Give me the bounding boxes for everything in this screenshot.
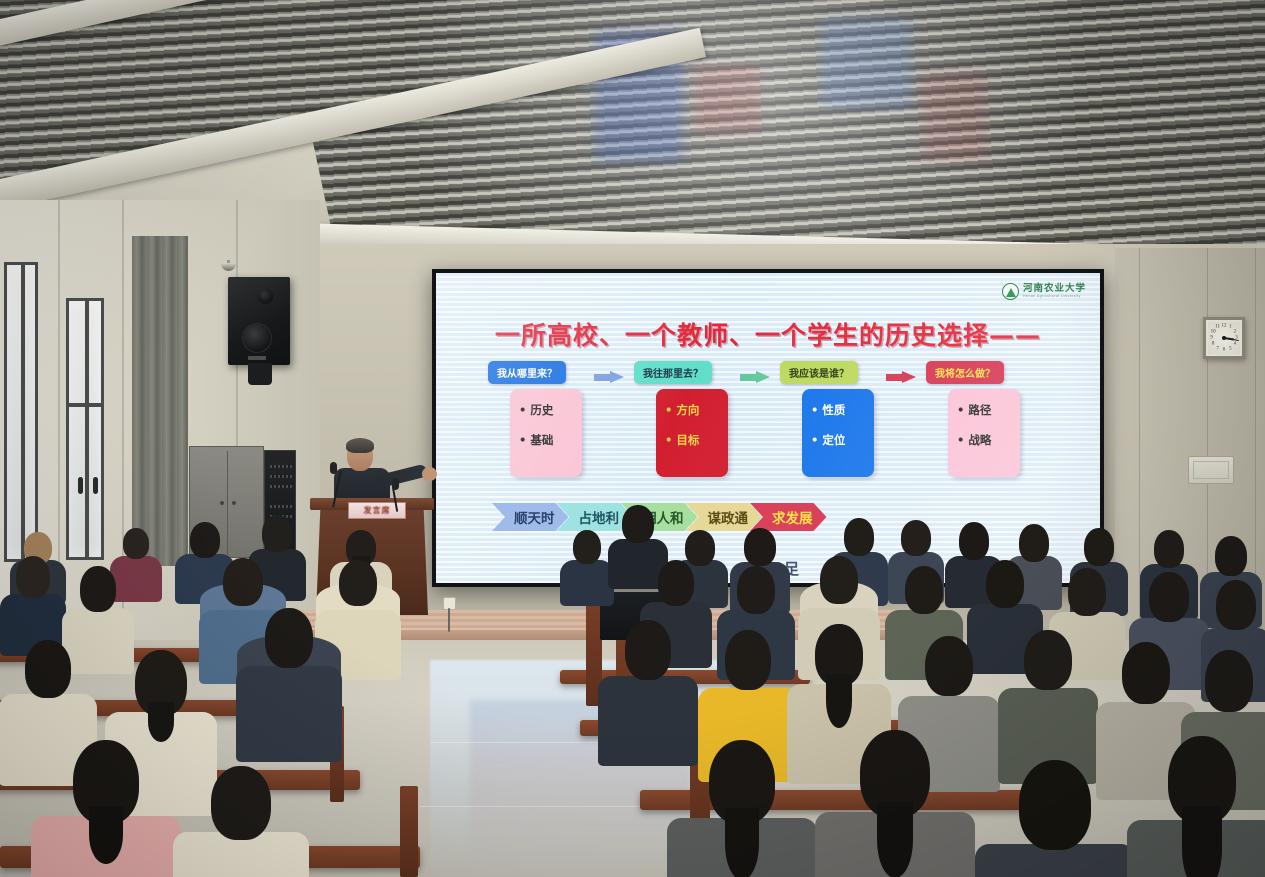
person-ponytail [148,702,174,742]
person-head [223,558,263,606]
wall-access-panel[interactable] [1188,456,1234,484]
person-head [123,528,149,559]
person-head [1216,580,1256,630]
person-head [339,560,377,606]
rack-vent [270,485,292,488]
clock-numeral: 4 [1234,341,1237,346]
person-head [1122,642,1170,704]
rack-vent [270,465,292,468]
flow-item: 定位 [811,432,874,448]
person-head [262,515,292,552]
flow-stage-3-question: 我应该是谁？ [780,361,858,384]
flow-stage-4-card: 路径 战略 [948,389,1020,477]
person-head [986,560,1024,608]
flow-item: 性质 [811,402,874,418]
person-head [844,518,874,556]
wall-clock: 12 1 2 3 4 5 6 7 8 9 10 11 [1203,317,1245,359]
person-head [80,566,116,612]
person-ponytail [89,806,123,864]
person-head [211,766,271,840]
presenter-hand [422,467,437,481]
audience-member [1132,736,1265,877]
audience-member [0,556,66,652]
flow-stage-4-question: 我将怎么做？ [926,361,1004,384]
person-head [925,636,973,696]
person-ponytail [1182,806,1222,877]
person-ponytail [877,802,913,877]
window-left-upper [66,298,104,560]
audience-member [560,530,614,602]
bench-end-post [400,786,418,877]
person-head [1215,536,1247,576]
ceiling-reflection-red-a [696,66,759,132]
person-head [16,556,50,598]
speaker-mount-bracket [248,363,272,385]
ceiling-reflection-red-b [923,72,986,162]
arrow-head [610,371,624,383]
clock-center-pin [1222,336,1226,340]
clock-numeral: 12 [1222,323,1227,328]
arrow-head [902,371,916,383]
person-head [658,560,694,606]
person-ponytail [725,808,759,877]
university-logo: 河南农业大学 Henan Agricultural University [1002,283,1086,300]
flow-stage-2-card: 方向 目标 [656,389,728,477]
person-head [1149,572,1189,622]
window-left-far [4,262,38,562]
flow-arrow-3 [886,371,916,384]
person-head [622,505,654,543]
clock-numeral: 5 [1229,346,1232,351]
speaker-brand-badge [248,356,266,360]
person-head [1024,630,1072,690]
window-mullion [21,265,25,559]
flow-arrow-2 [740,371,770,384]
rack-vent [270,475,292,478]
person-head [1205,650,1253,712]
window-handle[interactable] [93,477,98,494]
flow-arrow-1 [594,371,624,384]
person-head [573,530,601,564]
flow-item: 方向 [665,402,728,418]
clock-numeral: 8 [1212,341,1215,346]
slide-title: 一所高校、一个教师、一个学生的历史选择—— [436,316,1100,352]
person-head [1019,524,1049,562]
person-torso [236,666,342,762]
clock-numeral: 7 [1216,346,1219,351]
person-head [1084,528,1114,566]
person-head [744,528,776,566]
flow-item: 战略 [957,432,1020,448]
audience-member [1000,630,1096,776]
window-transom [69,403,101,407]
audience-member [980,760,1130,877]
university-logo-icon [1002,283,1019,300]
flow-stage-3-card: 性质 定位 [802,389,874,477]
clock-face: 12 1 2 3 4 5 6 7 8 9 10 11 [1208,322,1240,354]
cabinet-handle[interactable] [232,501,236,505]
logo-name-cn: 河南农业大学 [1023,284,1086,294]
logo-name-en: Henan Agricultural University [1023,295,1086,299]
rack-vent [270,505,292,508]
slide-flow-diagram: 我从哪里来？ 历史 基础 我往那里去？ 方向 目标 [488,361,1068,485]
clock-numeral: 10 [1211,330,1216,335]
flow-stage-1-card: 历史 基础 [510,389,582,477]
person-head [905,566,943,614]
audience-member [820,730,970,877]
audience-member [176,766,306,877]
clock-numeral: 2 [1234,330,1237,335]
person-head [901,520,931,556]
speaker-woofer [242,323,272,353]
person-head [190,522,220,558]
dome-camera-icon [221,260,236,271]
flow-item: 历史 [519,402,582,418]
person-head [1068,568,1106,616]
flow-stage-1-question: 我从哪里来？ [488,361,566,384]
person-ponytail [826,674,852,728]
audience-member [600,620,696,758]
lecture-hall-scene: 12 1 2 3 4 5 6 7 8 9 10 11 河南农业大学 Henan … [0,0,1265,877]
wall-speaker [228,277,290,365]
flow-item: 基础 [519,432,582,448]
window-handle[interactable] [78,477,83,494]
clock-numeral: 1 [1229,325,1232,330]
presenter-hair [346,438,374,453]
flow-item: 路径 [957,402,1020,418]
audience-member [672,740,812,877]
person-head [725,630,771,690]
audience-member [36,740,176,877]
clock-numeral: 9 [1210,336,1213,341]
person-head [820,556,858,604]
audience-member [238,608,340,758]
person-torso [560,560,614,606]
clock-numeral: 6 [1223,348,1226,353]
outlet-cord [448,608,450,632]
person-head [25,640,71,698]
window-mullion [85,301,89,557]
person-head [1019,760,1091,850]
ceiling-reflection-blue-b [822,18,911,108]
flow-stage-2-question: 我往那里去？ [634,361,712,384]
cabinet-handle[interactable] [220,501,224,505]
camera-dome [221,263,236,271]
microphone-head [392,478,399,490]
person-head [959,522,989,560]
microphone-head [330,462,337,474]
clock-numeral: 11 [1215,325,1220,330]
person-head [265,608,313,668]
arrow-head [756,371,770,383]
window-curtain[interactable] [132,236,188,566]
chevron-1: 顺天时 [492,503,569,531]
podium-nameplate-text: 发言席 [364,505,391,516]
flow-item: 目标 [665,432,728,448]
person-head [625,620,671,680]
person-head [737,566,775,614]
person-head [1154,530,1184,568]
speaker-tweeter [258,289,273,304]
